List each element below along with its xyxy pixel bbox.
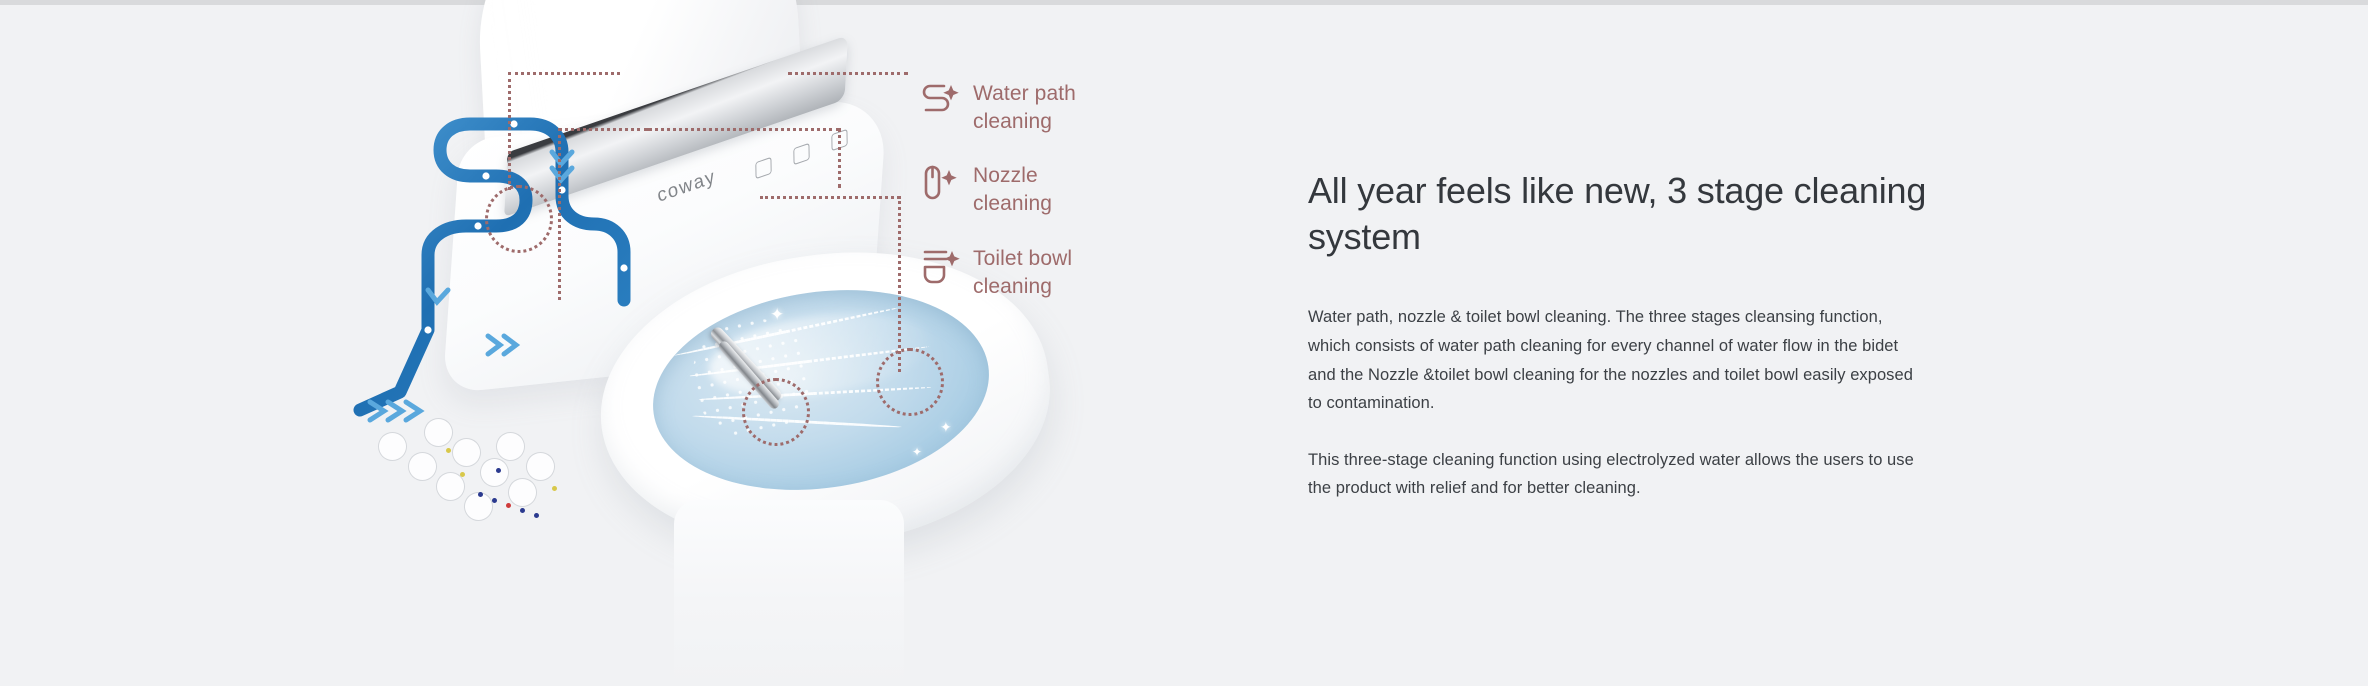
water-path-cleaning-icon [920,78,960,124]
body-paragraph-2: This three-stage cleaning function using… [1308,446,1928,503]
leader-line-nozzle-right [648,128,840,131]
toilet-bowl-cleaning-icon [920,243,960,289]
control-panel-led [492,498,497,503]
leader-line-water-path-right [788,72,908,75]
sparkle-icon: ✦ [940,420,952,434]
callout-water-path-label: Water path cleaning [973,78,1076,135]
nozzle-cleaning-icon [920,160,960,206]
control-panel-led [446,448,451,453]
control-panel-led [534,513,539,518]
sparkle-icon: ✦ [770,306,784,323]
control-panel-led [552,486,557,491]
leader-line-toilet-bowl-drop [898,196,901,372]
control-panel-led [460,472,465,477]
body-paragraph-1: Water path, nozzle & toilet bowl cleanin… [1308,303,1928,417]
control-panel-button[interactable] [404,448,442,486]
callout-water-path-cleaning: Water path cleaning [920,78,1220,135]
control-panel-button[interactable] [420,414,458,452]
leader-line-water-path-drop [508,72,511,190]
leader-line-nozzle-right-drop [838,128,841,188]
control-panel-led [478,492,483,497]
callout-nozzle-cleaning: Nozzle cleaning [920,160,1220,217]
callout-label-list: Water path cleaning Nozzle cleaning [920,78,1220,325]
callout-circle-toilet-bowl [876,348,944,416]
control-panel-led [506,503,511,508]
sparkle-icon: ✦ [912,446,922,458]
leader-line-nozzle-drop [558,128,561,300]
control-panel-led [520,508,525,513]
control-panel-button[interactable] [374,428,412,466]
callout-nozzle-label: Nozzle cleaning [973,160,1052,217]
control-panel-led [496,468,501,473]
page-title: All year feels like new, 3 stage cleanin… [1308,168,1928,259]
callout-circle-water-path [485,185,553,253]
toilet-pedestal [674,500,904,686]
leader-line-toilet-bowl [760,196,900,199]
callout-toilet-bowl-label: Toilet bowl cleaning [973,243,1072,300]
copy-block: All year feels like new, 3 stage cleanin… [1308,168,1928,503]
control-panel-button[interactable] [448,434,486,472]
callout-circle-nozzle [742,378,810,446]
leader-line-water-path [508,72,620,75]
callout-toilet-bowl-cleaning: Toilet bowl cleaning [920,243,1220,300]
promo-banner: coway ✦ ✦ ✦ [0,0,2368,686]
leader-line-nozzle [558,128,648,131]
